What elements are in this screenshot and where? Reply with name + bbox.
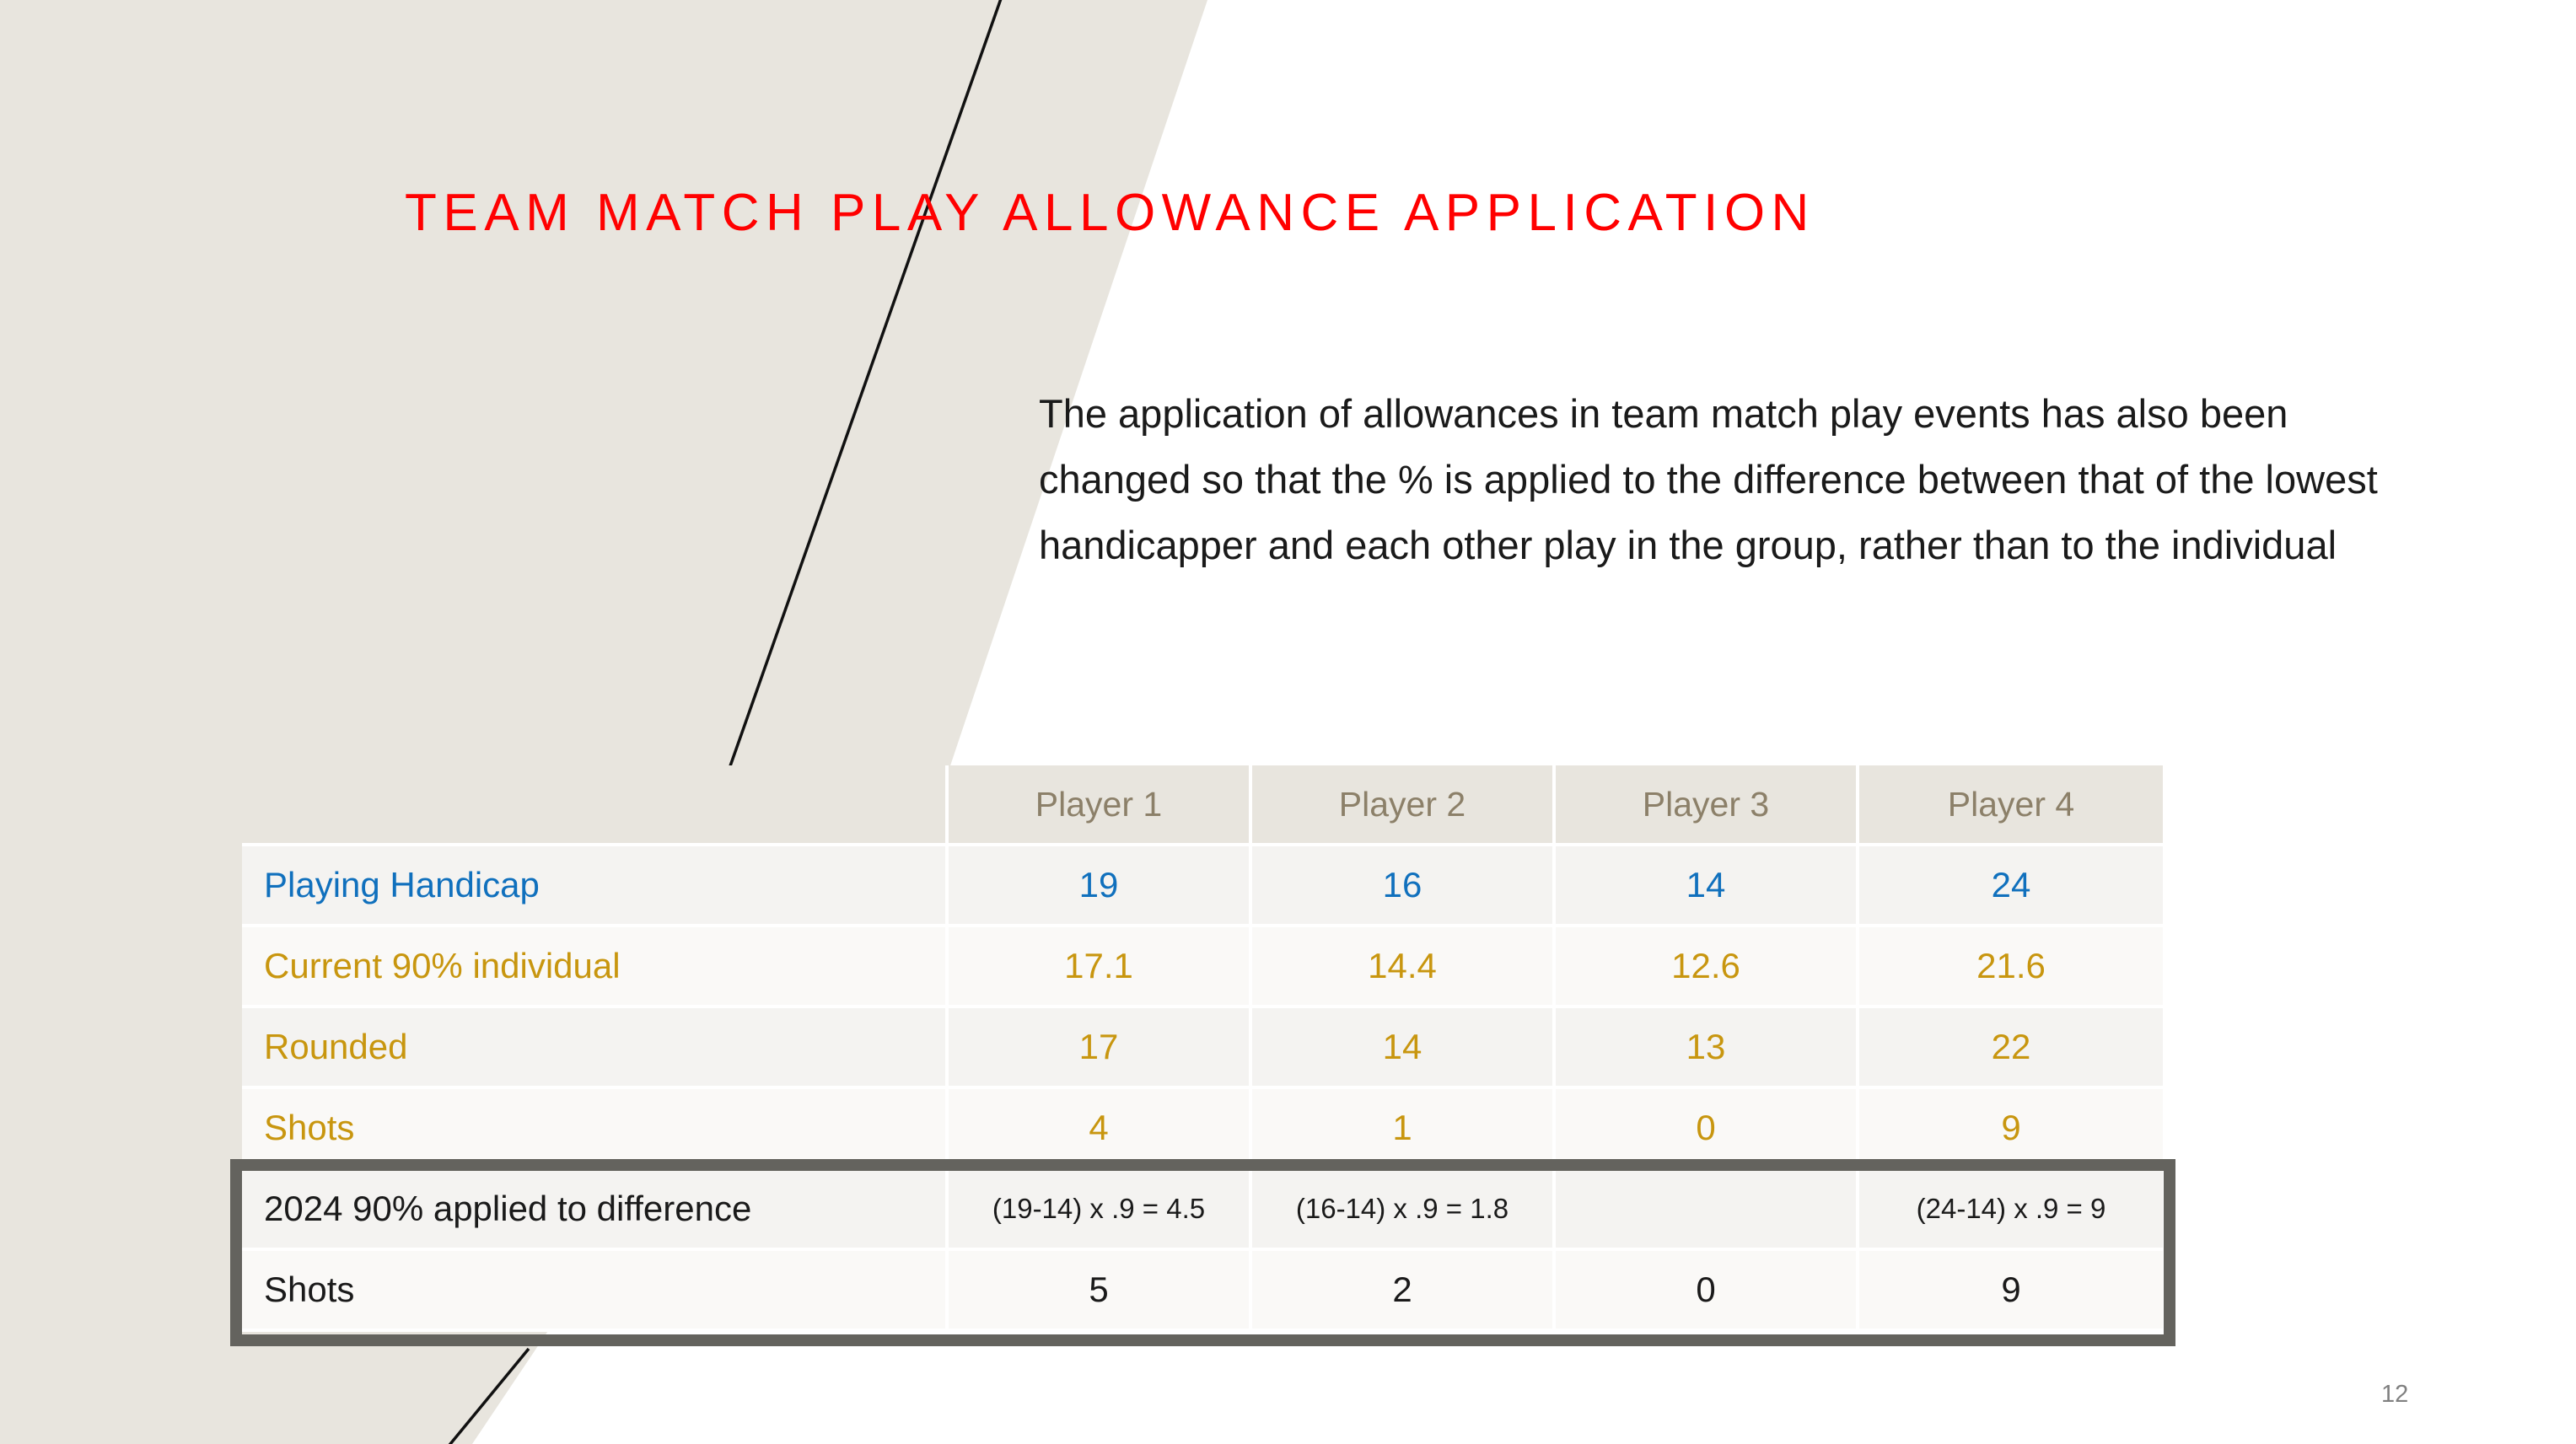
cell-shots-current-player-2: 1 [1252,1089,1556,1170]
cell-shots-2024-player-1: 5 [949,1251,1252,1332]
table-corner-cell [242,765,949,846]
cell-playing-handicap-player-2: 16 [1252,846,1556,927]
cell-2024-player-2: (16-14) x .9 = 1.8 [1252,1170,1556,1251]
table-row: Rounded 17 14 13 22 [242,1008,2163,1089]
table-header: Player 1 Player 2 Player 3 Player 4 [242,765,2163,846]
cell-shots-current-player-3: 0 [1556,1089,1859,1170]
row-label-current-90-individual: Current 90% individual [242,927,949,1008]
allowance-table: Player 1 Player 2 Player 3 Player 4 Play… [242,765,2163,1332]
cell-shots-current-player-4: 9 [1859,1089,2163,1170]
allowance-table-container: Player 1 Player 2 Player 3 Player 4 Play… [242,765,2163,1332]
column-header-player-2: Player 2 [1252,765,1556,846]
row-label-shots-2024: Shots [242,1251,949,1332]
table-row: Shots 4 1 0 9 [242,1089,2163,1170]
cell-playing-handicap-player-1: 19 [949,846,1252,927]
table-row: Playing Handicap 19 16 14 24 [242,846,2163,927]
column-header-player-3: Player 3 [1556,765,1859,846]
cell-current90-player-2: 14.4 [1252,927,1556,1008]
cell-current90-player-3: 12.6 [1556,927,1859,1008]
cell-current90-player-4: 21.6 [1859,927,2163,1008]
cell-playing-handicap-player-3: 14 [1556,846,1859,927]
table-row: Current 90% individual 17.1 14.4 12.6 21… [242,927,2163,1008]
cell-current90-player-1: 17.1 [949,927,1252,1008]
cell-2024-player-3 [1556,1170,1859,1251]
cell-2024-player-4: (24-14) x .9 = 9 [1859,1170,2163,1251]
column-header-player-4: Player 4 [1859,765,2163,846]
cell-shots-2024-player-2: 2 [1252,1251,1556,1332]
cell-2024-player-1: (19-14) x .9 = 4.5 [949,1170,1252,1251]
row-label-shots-current: Shots [242,1089,949,1170]
table-header-row: Player 1 Player 2 Player 3 Player 4 [242,765,2163,846]
cell-shots-2024-player-3: 0 [1556,1251,1859,1332]
page-number: 12 [2381,1381,2408,1409]
cell-rounded-player-4: 22 [1859,1008,2163,1089]
column-header-player-1: Player 1 [949,765,1252,846]
cell-rounded-player-1: 17 [949,1008,1252,1089]
cell-rounded-player-3: 13 [1556,1008,1859,1089]
cell-playing-handicap-player-4: 24 [1859,846,2163,927]
row-label-rounded: Rounded [242,1008,949,1089]
table-row: Shots 5 2 0 9 [242,1251,2163,1332]
row-label-2024-applied-to-difference: 2024 90% applied to difference [242,1170,949,1251]
body-paragraph: The application of allowances in team ma… [1039,381,2422,578]
cell-shots-2024-player-4: 9 [1859,1251,2163,1332]
slide-canvas: TEAM MATCH PLAY ALLOWANCE APPLICATION Th… [0,0,2576,1444]
table-body: Playing Handicap 19 16 14 24 Current 90%… [242,846,2163,1332]
cell-shots-current-player-1: 4 [949,1089,1252,1170]
row-label-playing-handicap: Playing Handicap [242,846,949,927]
page-title: TEAM MATCH PLAY ALLOWANCE APPLICATION [405,187,1815,239]
cell-rounded-player-2: 14 [1252,1008,1556,1089]
table-row: 2024 90% applied to difference (19-14) x… [242,1170,2163,1251]
